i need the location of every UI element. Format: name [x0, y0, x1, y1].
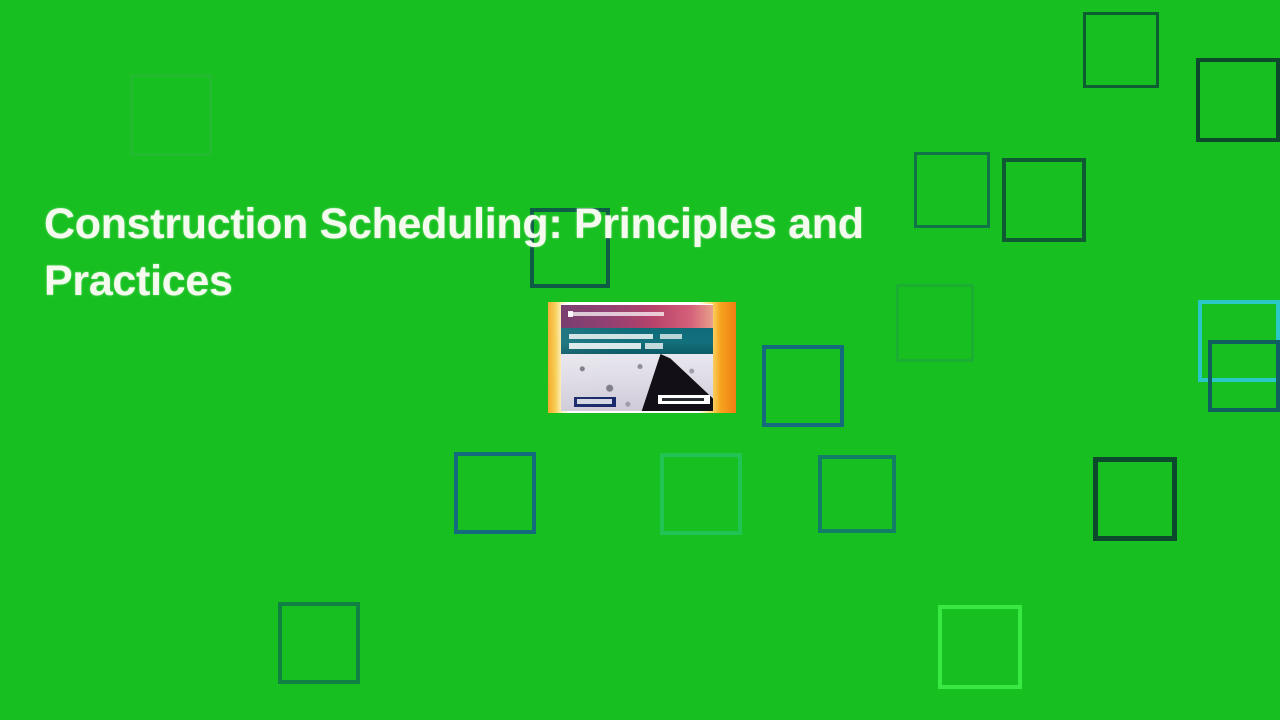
poster-canvas: Construction Scheduling: Principles and … [0, 0, 1280, 720]
page-title: Construction Scheduling: Principles and … [44, 196, 1004, 310]
book-cover-thumbnail [548, 302, 736, 413]
cover-glare [548, 302, 736, 413]
